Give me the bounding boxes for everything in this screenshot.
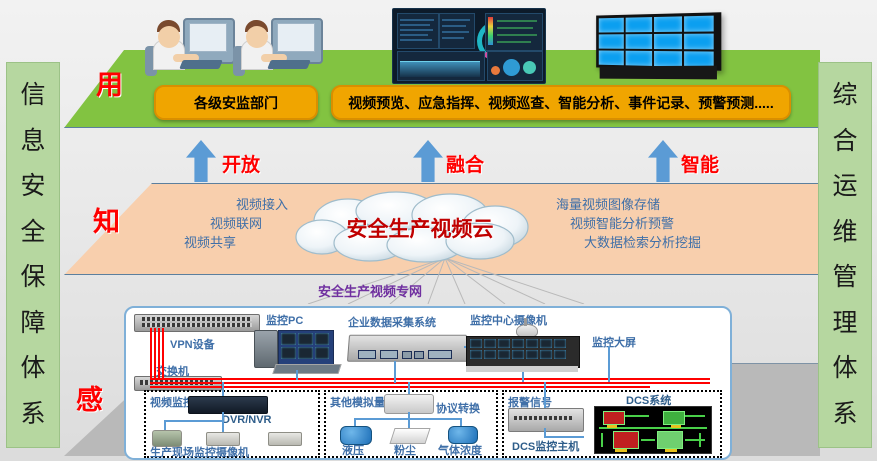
- pillar-right-char: 合: [832, 129, 857, 154]
- pc-screen-tile: [281, 347, 296, 359]
- pillar-left-char: 体: [20, 356, 45, 381]
- red-bus-line: [150, 386, 650, 388]
- collector-port: [428, 350, 452, 359]
- dcs-host-device: [508, 408, 584, 432]
- pc-uplink-wire: [296, 370, 298, 380]
- video-wall-tile: [554, 350, 566, 359]
- collector-port: [402, 351, 412, 359]
- dvr-uplink-wire: [222, 382, 224, 396]
- vpn-device-ports: [142, 323, 252, 327]
- pillar-right-char: 管: [832, 265, 857, 290]
- video-wall-tile: [526, 350, 538, 359]
- other-analog-label: 其他模拟量: [330, 394, 385, 410]
- architecture-diagram: 用 知 感 各级安监部门 视频预览、应急指挥、视频巡查、智能分析、事件记录、预警…: [0, 0, 877, 461]
- sense-layer-panel: VPN设备 交换机 监控PC 企业数据采集系统: [124, 306, 732, 460]
- dust-label: 粉尘: [394, 442, 416, 458]
- pc-screen-tile: [298, 333, 313, 345]
- protocol-converter-device: [384, 394, 434, 414]
- arrow-label-open: 开放: [222, 150, 260, 177]
- arrow-fusion-icon: [413, 140, 443, 182]
- pillar-right-char: 系: [832, 402, 857, 427]
- arrow-open-icon: [186, 140, 216, 182]
- pillar-left-char: 障: [20, 311, 45, 336]
- bigscreen-downlink-wire: [522, 372, 524, 382]
- layer-label-know: 知: [93, 200, 120, 239]
- cloud-right-item: 海量视频图像存储: [556, 196, 771, 215]
- red-trunk-line: [158, 328, 160, 378]
- dvr-nvr-label: DVR/NVR: [222, 414, 272, 426]
- pillar-left-char: 系: [20, 402, 45, 427]
- pillar-right-char: 运: [832, 174, 857, 199]
- monitor-pc-keyboard: [272, 364, 341, 374]
- video-wall-tile: [470, 339, 482, 348]
- pillar-right-char: 体: [832, 356, 857, 381]
- layer-label-use: 用: [96, 63, 123, 102]
- cloud-left-items: 视频接入 视频联网 视频共享: [128, 196, 288, 253]
- red-bus-line: [150, 382, 710, 384]
- arrow-label-intelligent: 智能: [681, 150, 719, 177]
- cloud-right-item: 视频智能分析预警: [556, 215, 771, 234]
- pillar-left-char: 全: [20, 220, 45, 245]
- pc-screen-tile: [281, 333, 296, 345]
- video-wall-tile: [470, 350, 482, 359]
- layer-label-sense: 感: [76, 378, 103, 417]
- collector-port: [380, 350, 398, 359]
- big-screen-label: 监控大屏: [592, 334, 636, 350]
- switch-label: 交换机: [156, 363, 189, 379]
- dept-box[interactable]: 各级安监部门: [154, 85, 318, 120]
- red-trunk-line: [150, 328, 152, 378]
- monitor-pc-tower: [254, 330, 278, 368]
- bigscreen-downlink-wire: [608, 346, 610, 382]
- video-wall-tile: [484, 339, 496, 348]
- pillar-left-char: 息: [20, 129, 45, 154]
- arrow-intelligent-icon: [648, 140, 678, 182]
- sidebar-ops-management: 综 合 运 维 管 理 体 系: [818, 62, 872, 448]
- red-bus-line: [150, 378, 710, 380]
- site-cameras-label: 生产现场监控摄像机: [150, 444, 249, 460]
- operators-illustration: [143, 6, 318, 81]
- dcs-host-label: DCS监控主机: [512, 438, 579, 454]
- red-trunk-line: [162, 328, 164, 378]
- pillar-right-char: 理: [832, 311, 857, 336]
- video-wall-tile: [484, 350, 496, 359]
- arrow-label-fusion: 融合: [446, 150, 484, 177]
- dcs-uplink-wire: [544, 382, 546, 408]
- pillar-left-char: 安: [20, 174, 45, 199]
- cloud-left-item: 视频联网: [128, 215, 288, 234]
- cloud-title: 安全生产视频云: [290, 213, 550, 243]
- collector-port: [414, 351, 424, 359]
- camera-bus-wire: [164, 420, 224, 422]
- collector-downlink-wire: [394, 361, 396, 383]
- monitor-pc-label: 监控PC: [266, 312, 303, 328]
- converter-uplink-wire: [408, 382, 410, 394]
- cloud-right-item: 大数据检索分析挖掘: [556, 234, 771, 253]
- video-wall-tile: [540, 350, 552, 359]
- enterprise-collector-label: 企业数据采集系统: [348, 314, 436, 330]
- private-network-label: 安全生产视频专网: [318, 281, 422, 300]
- functions-box[interactable]: 视频预览、应急指挥、视频巡查、智能分析、事件记录、预警预测.....: [331, 85, 791, 120]
- dvr-nvr-device: [188, 396, 268, 414]
- vpn-device-ports: [142, 317, 252, 321]
- cloud-left-item: 视频接入: [128, 196, 288, 215]
- sidebar-info-security: 信 息 安 全 保 障 体 系: [6, 62, 60, 448]
- video-wall-tile: [526, 339, 538, 348]
- camera-mount: [524, 318, 527, 326]
- video-wall-tile: [498, 339, 510, 348]
- box-camera-icon: [268, 432, 302, 446]
- bi-dashboard-illustration: [392, 8, 546, 84]
- protocol-convert-label: 协议转换: [436, 400, 480, 416]
- sensor-drop-wire: [408, 412, 410, 428]
- cloud-left-item: 视频共享: [128, 234, 288, 253]
- pillar-left-char: 保: [20, 265, 45, 290]
- vpn-label: VPN设备: [170, 336, 215, 352]
- pillar-right-char: 综: [832, 83, 857, 108]
- video-wall-tile: [512, 339, 524, 348]
- pillar-left-char: 信: [20, 83, 45, 108]
- video-wall-illustration: [585, 8, 725, 82]
- gas-density-label: 气体浓度: [438, 442, 482, 458]
- collector-port: [358, 350, 376, 359]
- dcs-host-front: [514, 416, 572, 420]
- video-wall-tile: [540, 339, 552, 348]
- video-wall-tile: [554, 339, 566, 348]
- video-wall-tile: [512, 350, 524, 359]
- dcs-hmi-screenshot: [594, 406, 712, 454]
- pc-screen-tile: [298, 347, 313, 359]
- red-trunk-line: [154, 328, 156, 378]
- hydraulic-label: 液压: [342, 442, 364, 458]
- video-wall-tile: [498, 350, 510, 359]
- pc-screen-tile: [315, 347, 329, 359]
- camera-drop-wire: [222, 412, 224, 432]
- pillar-right-char: 维: [832, 220, 857, 245]
- pc-screen-tile: [315, 333, 329, 345]
- cloud-right-items: 海量视频图像存储 视频智能分析预警 大数据检索分析挖掘: [556, 196, 771, 253]
